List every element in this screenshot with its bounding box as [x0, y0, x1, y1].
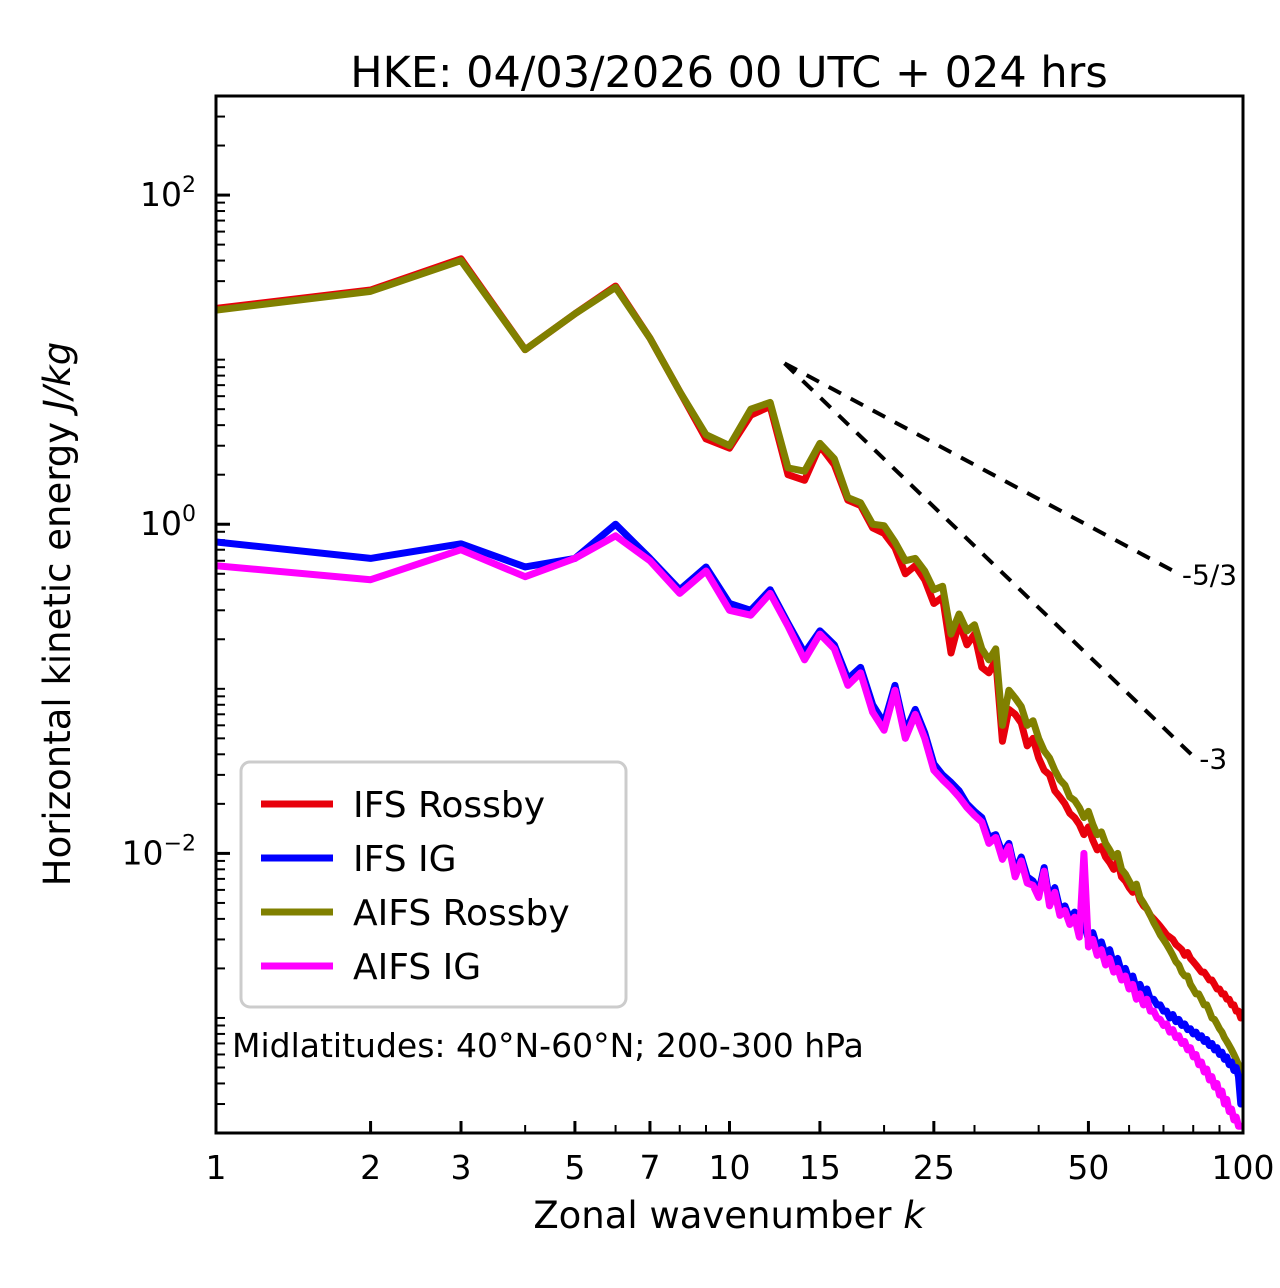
- region-annotation: Midlatitudes: 40°N-60°N; 200-300 hPa: [232, 1026, 864, 1065]
- x-tick-label: 1: [206, 1148, 227, 1187]
- legend-label-ifs-rossby[interactable]: IFS Rossby: [353, 785, 545, 826]
- y-axis-label: Horizontal kinetic energy J/kg: [36, 342, 79, 886]
- x-tick-label: 2: [360, 1148, 381, 1187]
- x-tick-label: 25: [913, 1148, 955, 1187]
- figure-root: HKE: 04/03/2026 00 UTC + 024 hrs 1235710…: [0, 0, 1280, 1288]
- chart-title: HKE: 04/03/2026 00 UTC + 024 hrs: [350, 48, 1107, 98]
- x-tick-label: 15: [799, 1148, 841, 1187]
- x-tick-label: 5: [564, 1148, 585, 1187]
- slope-label--3: -3: [1199, 742, 1227, 775]
- x-tick-label: 100: [1212, 1148, 1275, 1187]
- x-tick-label: 50: [1067, 1148, 1109, 1187]
- slope-label--5-3: -5/3: [1182, 558, 1237, 591]
- legend-label-ifs-ig[interactable]: IFS IG: [353, 839, 457, 880]
- chart-legend[interactable]: IFS RossbyIFS IGAIFS RossbyAIFS IG: [241, 762, 626, 1007]
- legend-label-aifs-rossby[interactable]: AIFS Rossby: [353, 893, 570, 934]
- x-tick-label: 3: [451, 1148, 472, 1187]
- x-axis-label: Zonal wavenumber k: [533, 1194, 926, 1237]
- x-tick-label: 7: [639, 1148, 660, 1187]
- hke-spectrum-chart: HKE: 04/03/2026 00 UTC + 024 hrs 1235710…: [0, 0, 1280, 1288]
- x-tick-label: 10: [709, 1148, 751, 1187]
- legend-label-aifs-ig[interactable]: AIFS IG: [353, 947, 481, 988]
